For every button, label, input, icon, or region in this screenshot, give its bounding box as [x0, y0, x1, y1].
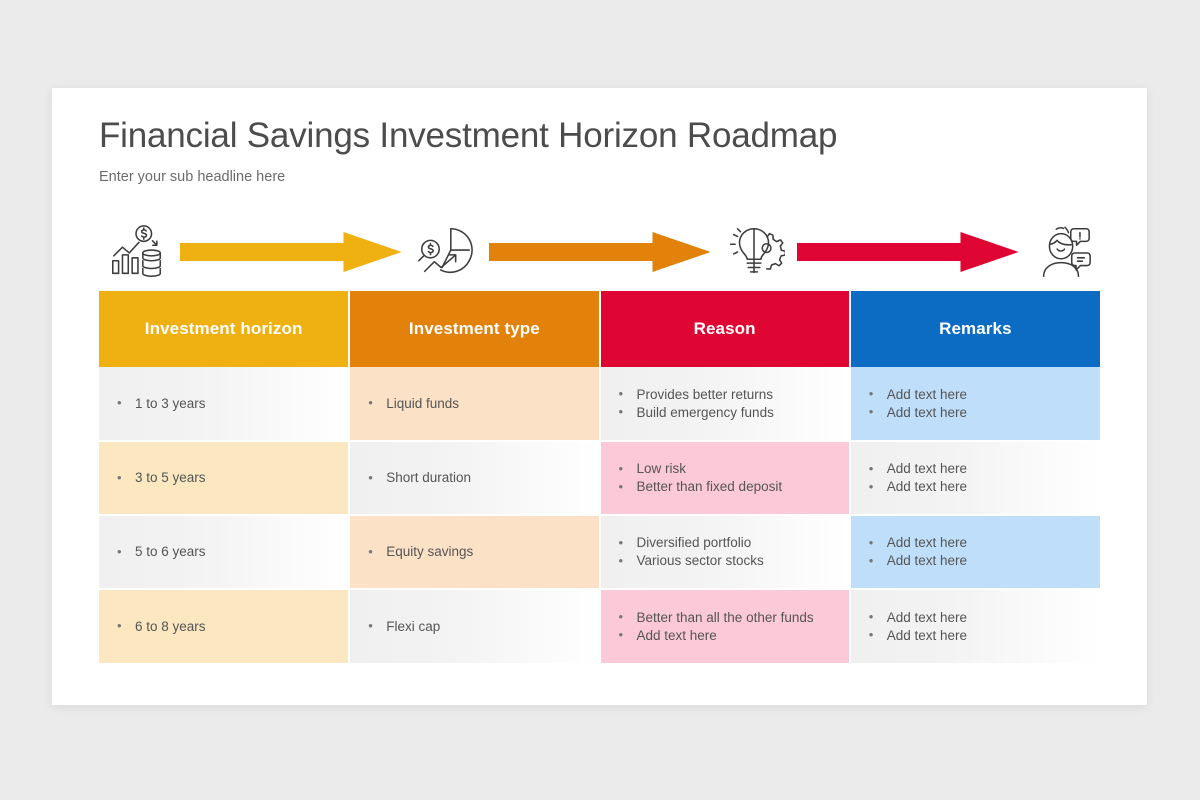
list-item: Add text here [865, 460, 1100, 478]
page-subtitle: Enter your sub headline here [99, 169, 837, 185]
list-item: Various sector stocks [615, 552, 849, 570]
arrow-stage-1 [174, 231, 408, 273]
cell-list: Add text here Add text here [865, 460, 1100, 496]
list-item: 5 to 6 years [113, 543, 348, 561]
table-row: 5 to 6 years Equity savings Diversified … [99, 515, 1100, 589]
list-item: Add text here [865, 478, 1100, 496]
list-item: Diversified portfolio [615, 534, 849, 552]
list-item: Equity savings [364, 543, 598, 561]
cell-investment-horizon: 6 to 8 years [99, 589, 349, 663]
list-item: Liquid funds [364, 395, 598, 413]
cell-remarks: Add text here Add text here [850, 441, 1100, 515]
list-item: Better than fixed deposit [615, 478, 849, 496]
column-header-remarks: Remarks [850, 291, 1100, 367]
list-item: Flexi cap [364, 618, 598, 636]
person-feedback-icon [1025, 221, 1100, 283]
arrow-stage-2 [483, 231, 717, 273]
cell-remarks: Add text here Add text here [850, 367, 1100, 441]
list-item: Add text here [615, 627, 849, 645]
cell-list: 3 to 5 years [113, 469, 348, 487]
table-row: 1 to 3 years Liquid funds Provides bette… [99, 367, 1100, 441]
cell-investment-type: Liquid funds [349, 367, 599, 441]
table-header-row: Investment horizon Investment type Reaso… [99, 291, 1100, 367]
list-item: Add text here [865, 627, 1100, 645]
list-item: Short duration [364, 469, 598, 487]
pie-chart-dollar-magnifier-icon [408, 221, 483, 283]
cell-remarks: Add text here Add text here [850, 589, 1100, 663]
list-item: Add text here [865, 534, 1100, 552]
cell-investment-horizon: 3 to 5 years [99, 441, 349, 515]
cell-list: Provides better returns Build emergency … [615, 386, 849, 422]
cell-list: Short duration [364, 469, 598, 487]
growth-chart-coins-icon [99, 221, 174, 283]
list-item: Add text here [865, 404, 1100, 422]
cell-investment-type: Flexi cap [349, 589, 599, 663]
cell-list: Equity savings [364, 543, 598, 561]
list-item: Add text here [865, 552, 1100, 570]
investment-roadmap-table: Investment horizon Investment type Reaso… [99, 291, 1100, 663]
table-row: 3 to 5 years Short duration Low risk Bet… [99, 441, 1100, 515]
list-item: 1 to 3 years [113, 395, 348, 413]
arrow-stage-3 [791, 231, 1025, 273]
column-header-investment-horizon: Investment horizon [99, 291, 349, 367]
list-item: Add text here [865, 609, 1100, 627]
cell-investment-type: Short duration [349, 441, 599, 515]
cell-list: Add text here Add text here [865, 534, 1100, 570]
table-row: 6 to 8 years Flexi cap Better than all t… [99, 589, 1100, 663]
cell-list: Diversified portfolio Various sector sto… [615, 534, 849, 570]
list-item: Low risk [615, 460, 849, 478]
lightbulb-gear-icon [716, 221, 791, 283]
process-flow-strip [99, 213, 1100, 291]
cell-reason: Diversified portfolio Various sector sto… [600, 515, 850, 589]
column-header-reason: Reason [600, 291, 850, 367]
cell-list: Low risk Better than fixed deposit [615, 460, 849, 496]
cell-list: 6 to 8 years [113, 618, 348, 636]
cell-list: 1 to 3 years [113, 395, 348, 413]
list-item: Add text here [865, 386, 1100, 404]
title-block: Financial Savings Investment Horizon Roa… [99, 116, 837, 185]
cell-reason: Provides better returns Build emergency … [600, 367, 850, 441]
list-item: Provides better returns [615, 386, 849, 404]
list-item: 6 to 8 years [113, 618, 348, 636]
cell-list: Better than all the other funds Add text… [615, 609, 849, 645]
cell-remarks: Add text here Add text here [850, 515, 1100, 589]
cell-list: Liquid funds [364, 395, 598, 413]
cell-list: 5 to 6 years [113, 543, 348, 561]
column-header-investment-type: Investment type [349, 291, 599, 367]
list-item: Better than all the other funds [615, 609, 849, 627]
cell-reason: Better than all the other funds Add text… [600, 589, 850, 663]
cell-list: Flexi cap [364, 618, 598, 636]
cell-investment-horizon: 1 to 3 years [99, 367, 349, 441]
cell-investment-horizon: 5 to 6 years [99, 515, 349, 589]
slide-card: Financial Savings Investment Horizon Roa… [52, 88, 1147, 705]
cell-reason: Low risk Better than fixed deposit [600, 441, 850, 515]
list-item: Build emergency funds [615, 404, 849, 422]
cell-list: Add text here Add text here [865, 609, 1100, 645]
cell-list: Add text here Add text here [865, 386, 1100, 422]
list-item: 3 to 5 years [113, 469, 348, 487]
page-title: Financial Savings Investment Horizon Roa… [99, 116, 837, 156]
cell-investment-type: Equity savings [349, 515, 599, 589]
